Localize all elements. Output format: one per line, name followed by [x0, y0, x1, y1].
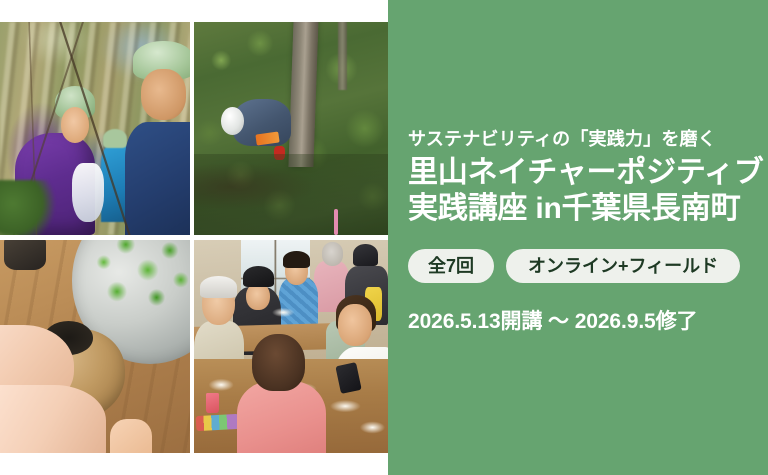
photo-hands-pot: [0, 240, 190, 453]
status-badge-sessions: 全7回: [408, 249, 494, 283]
photo-main-trunk: [288, 22, 318, 167]
photo-hand-lower: [0, 385, 106, 453]
page-title: 里山ネイチャーポジティブ 実践講座 in千葉県長南町: [408, 155, 750, 228]
course-title-line-1: 里山ネイチャーポジティブ: [408, 156, 764, 189]
course-title-line-2: 実践講座 in千葉県長南町: [408, 192, 740, 225]
photo-pink-marker: [334, 209, 338, 235]
status-badge-format: オンライン+フィールド: [506, 249, 740, 283]
photo-foliage: [0, 180, 61, 235]
photo-dark-vessel: [4, 240, 46, 270]
photo-pink-shirt-woman: [237, 381, 326, 453]
info-panel: サステナビリティの「実践力」を磨く 里山ネイチャーポジティブ 実践講座 in千葉…: [388, 0, 768, 475]
photo-forest-pruning: [0, 22, 190, 235]
photo-indoor-workshop: [194, 240, 388, 453]
photo-pink-cup: [206, 393, 220, 412]
photo-pink-shirt-woman-hair: [252, 334, 304, 392]
photo-green-foliage: [84, 240, 190, 321]
photo-hand-small: [110, 419, 152, 453]
photo-ground-shade: [194, 154, 388, 235]
photo-pen-set: [196, 414, 239, 431]
photo-secondary-trunk: [338, 22, 348, 90]
photo-collage: [0, 22, 388, 453]
photo-slope-cutting: [194, 22, 388, 235]
info-panel-content: サステナビリティの「実践力」を磨く 里山ネイチャーポジティブ 実践講座 in千葉…: [408, 128, 750, 335]
course-dates: 2026.5.13開講 ～ 2026.9.5修了: [408, 305, 750, 335]
course-subtitle: サステナビリティの「実践力」を磨く: [408, 128, 750, 151]
course-banner: サステナビリティの「実践力」を磨く 里山ネイチャーポジティブ 実践講座 in千葉…: [0, 0, 768, 475]
badge-group: 全7回 オンライン+フィールド: [408, 249, 750, 283]
